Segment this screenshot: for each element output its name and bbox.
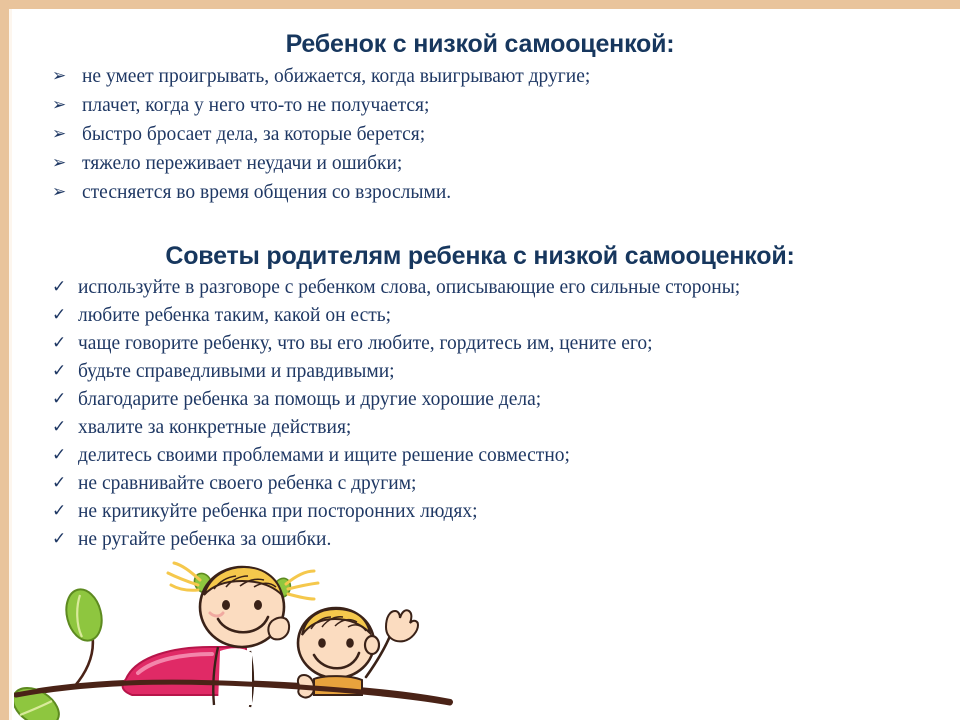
leaf-upper bbox=[61, 586, 107, 645]
list-item-label: быстро бросает дела, за которые берется; bbox=[82, 124, 932, 146]
frame-left-border bbox=[0, 0, 9, 720]
list-item: ➢ плачет, когда у него что-то не получае… bbox=[52, 95, 932, 124]
check-bullet-icon: ✓ bbox=[52, 417, 78, 437]
list-item: ✓ не ругайте ребенка за ошибки. bbox=[52, 529, 942, 557]
check-bullet-icon: ✓ bbox=[52, 333, 78, 353]
boy-ear bbox=[365, 636, 379, 654]
list-item-label: не ругайте ребенка за ошибки. bbox=[78, 529, 942, 551]
check-bullet-icon: ✓ bbox=[52, 445, 78, 465]
children-illustration bbox=[14, 555, 454, 720]
list-item: ➢ тяжело переживает неудачи и ошибки; bbox=[52, 153, 932, 182]
list-item: ✓ хвалите за конкретные действия; bbox=[52, 417, 942, 445]
frame-top-border bbox=[0, 0, 960, 9]
frame-left-inner-highlight bbox=[9, 9, 12, 720]
list-item: ➢ не умеет проигрывать, обижается, когда… bbox=[52, 66, 932, 95]
list-item: ✓ не критикуйте ребенка при посторонних … bbox=[52, 501, 942, 529]
list-item-label: используйте в разговоре с ребенком слова… bbox=[78, 277, 942, 299]
arrow-bullet-icon: ➢ bbox=[52, 182, 82, 203]
list-item: ✓ используйте в разговоре с ребенком сло… bbox=[52, 277, 942, 305]
boy-eye-right bbox=[346, 638, 354, 648]
list-item-label: любите ребенка таким, какой он есть; bbox=[78, 305, 942, 327]
list-item: ➢ стесняется во время общения со взрослы… bbox=[52, 182, 932, 211]
list-item-label: тяжело переживает неудачи и ошибки; bbox=[82, 153, 932, 175]
boy-waving-hand bbox=[386, 610, 418, 641]
list-item-label: чаще говорите ребенку, что вы его любите… bbox=[78, 333, 942, 355]
list-item-label: делитесь своими проблемами и ищите решен… bbox=[78, 445, 942, 467]
list-item-label: плачет, когда у него что-то не получаетс… bbox=[82, 95, 932, 117]
list-item-label: будьте справедливыми и правдивыми; bbox=[78, 361, 942, 383]
arrow-bullet-icon: ➢ bbox=[52, 95, 82, 116]
list-item: ➢ быстро бросает дела, за которые беретс… bbox=[52, 124, 932, 153]
symptoms-heading: Ребенок с низкой самооценкой: bbox=[0, 30, 960, 59]
girl-eye-right bbox=[254, 600, 262, 610]
list-item: ✓ будьте справедливыми и правдивыми; bbox=[52, 361, 942, 389]
arrow-bullet-icon: ➢ bbox=[52, 66, 82, 87]
girl-torso bbox=[218, 648, 252, 705]
check-bullet-icon: ✓ bbox=[52, 473, 78, 493]
slide-root: Ребенок с низкой самооценкой: ➢ не умеет… bbox=[0, 0, 960, 720]
list-item-label: хвалите за конкретные действия; bbox=[78, 417, 942, 439]
list-item-label: не критикуйте ребенка при посторонних лю… bbox=[78, 501, 942, 523]
check-bullet-icon: ✓ bbox=[52, 277, 78, 297]
list-item: ✓ не сравнивайте своего ребенка с другим… bbox=[52, 473, 942, 501]
boy-eye-left bbox=[318, 638, 326, 648]
girl-eye-left bbox=[222, 600, 230, 610]
list-item: ✓ благодарите ребенка за помощь и другие… bbox=[52, 389, 942, 417]
check-bullet-icon: ✓ bbox=[52, 389, 78, 409]
list-item: ✓ чаще говорите ребенку, что вы его люби… bbox=[52, 333, 942, 361]
advice-heading: Советы родителям ребенка с низкой самооц… bbox=[0, 242, 960, 271]
list-item-label: не умеет проигрывать, обижается, когда в… bbox=[82, 66, 932, 88]
symptoms-list: ➢ не умеет проигрывать, обижается, когда… bbox=[52, 66, 932, 211]
list-item-label: стесняется во время общения со взрослыми… bbox=[82, 182, 932, 204]
check-bullet-icon: ✓ bbox=[52, 501, 78, 521]
check-bullet-icon: ✓ bbox=[52, 305, 78, 325]
advice-list: ✓ используйте в разговоре с ребенком сло… bbox=[52, 277, 942, 557]
arrow-bullet-icon: ➢ bbox=[52, 124, 82, 145]
check-bullet-icon: ✓ bbox=[52, 361, 78, 381]
list-item: ✓ любите ребенка таким, какой он есть; bbox=[52, 305, 942, 333]
check-bullet-icon: ✓ bbox=[52, 529, 78, 549]
list-item-label: благодарите ребенка за помощь и другие х… bbox=[78, 389, 942, 411]
girl-hand bbox=[268, 618, 289, 640]
arrow-bullet-icon: ➢ bbox=[52, 153, 82, 174]
list-item-label: не сравнивайте своего ребенка с другим; bbox=[78, 473, 942, 495]
list-item: ✓ делитесь своими проблемами и ищите реш… bbox=[52, 445, 942, 473]
